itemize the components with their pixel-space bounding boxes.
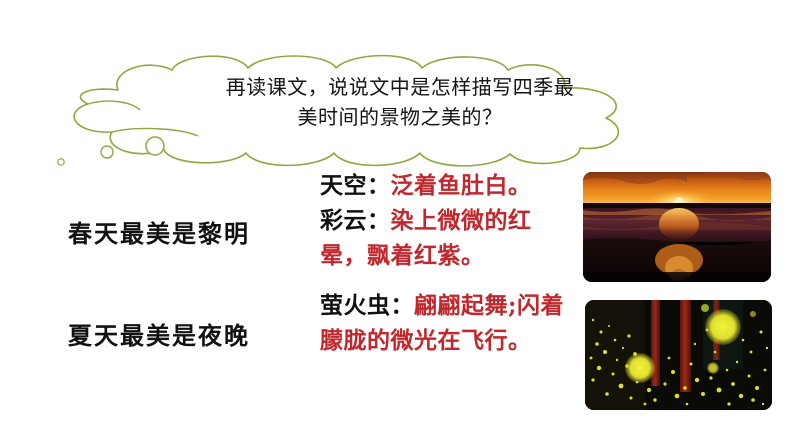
sunrise-image-graphic — [583, 172, 771, 282]
season-description-summer: 萤火虫：翩翩起舞;闪着朦胧的微光在飞行。 — [320, 288, 570, 358]
question-line-1: 再读课文，说说文中是怎样描写四季最 — [226, 75, 575, 99]
thought-bubble-question: 再读课文，说说文中是怎样描写四季最 美时间的景物之美的？ — [185, 72, 615, 132]
season-label-spring: 春天最美是黎明 — [68, 214, 250, 249]
fireflies-in-forest-photo — [585, 300, 772, 410]
thought-tail-circle-small — [58, 159, 64, 165]
spring-subject-sky: 天空： — [320, 172, 391, 199]
spring-detail-sky: 泛着鱼肚白。 — [391, 172, 532, 199]
spring-subject-clouds: 彩云： — [320, 207, 391, 234]
slide-canvas: 再读课文，说说文中是怎样描写四季最 美时间的景物之美的？ 春天最美是黎明 天空：… — [0, 0, 794, 447]
question-line-2: 美时间的景物之美的？ — [185, 102, 615, 132]
thought-tail-circle-medium — [101, 146, 113, 158]
thought-bubble: 再读课文，说说文中是怎样描写四季最 美时间的景物之美的？ — [40, 52, 640, 177]
season-description-spring: 天空：泛着鱼肚白。 彩云：染上微微的红晕，飘着红紫。 — [320, 168, 570, 273]
season-label-summer: 夏天最美是夜晚 — [68, 316, 250, 351]
sunrise-over-ocean-photo — [583, 172, 771, 282]
fireflies-image-graphic — [585, 300, 772, 410]
thought-tail-circle-large — [146, 137, 164, 155]
summer-subject-firefly: 萤火虫： — [320, 292, 414, 319]
